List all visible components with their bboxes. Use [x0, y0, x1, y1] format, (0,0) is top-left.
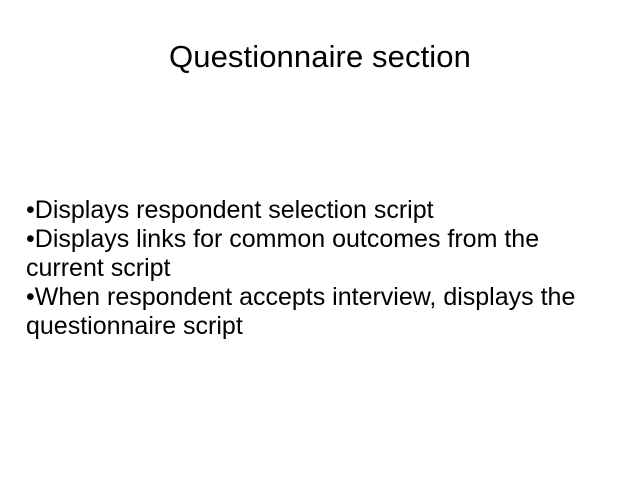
bullet-list: •Displays respondent selection script •D…: [26, 196, 622, 341]
list-item: •When respondent accepts interview, disp…: [26, 283, 622, 312]
list-item-label: When respondent accepts interview, displ…: [35, 283, 576, 311]
list-item: •Displays respondent selection script: [26, 196, 622, 225]
bullet-icon: •: [26, 196, 35, 224]
bullet-icon: •: [26, 225, 35, 253]
list-item-continuation: questionnaire script: [26, 312, 622, 341]
list-item-continuation: current script: [26, 254, 622, 283]
list-item: •Displays links for common outcomes from…: [26, 225, 622, 254]
page-title: Questionnaire section: [0, 38, 640, 76]
list-item-label: Displays respondent selection script: [35, 196, 434, 224]
list-item-label: Displays links for common outcomes from …: [35, 225, 539, 253]
slide-canvas: Questionnaire section •Displays responde…: [0, 0, 640, 480]
bullet-icon: •: [26, 283, 35, 311]
